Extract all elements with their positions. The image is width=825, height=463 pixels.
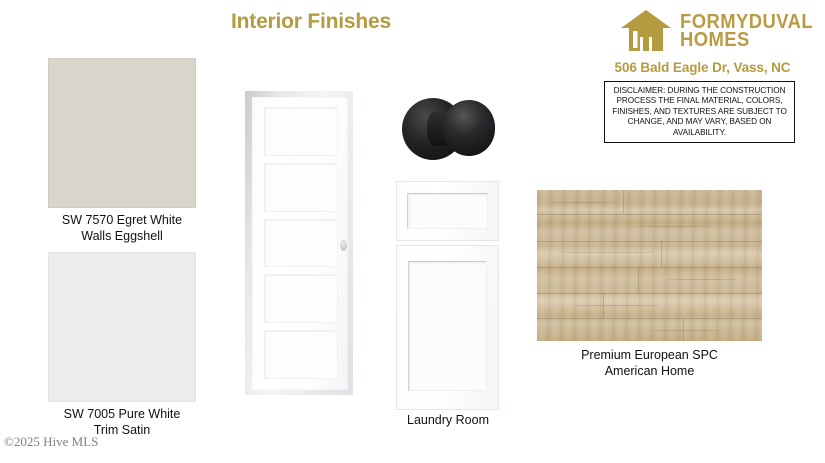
brand-wordmark: FORMYDUVAL HOMES: [680, 13, 813, 49]
cabinet-door-inset: [408, 261, 487, 391]
brand-address: 506 Bald Eagle Dr, Vass, NC: [600, 60, 805, 75]
wood-grain: [667, 279, 737, 280]
paint-swatch-walls-caption: SW 7570 Egret White Walls Eggshell: [33, 208, 211, 244]
brand-block: FORMYDUVAL HOMES 506 Bald Eagle Dr, Vass…: [600, 8, 805, 143]
mls-watermark: ©2025 Hive MLS: [4, 434, 98, 450]
interior-door-image: [245, 91, 353, 395]
cabinet-drawer-inset: [407, 193, 488, 229]
house-fh-logo-icon: [620, 8, 672, 53]
flooring-caption-line1: Premium European SPC: [517, 348, 782, 364]
door-panel-1: [264, 107, 337, 156]
cabinet-caption: Laundry Room: [354, 413, 542, 427]
paint-swatch-trim-caption: SW 7005 Pure White Trim Satin: [33, 402, 211, 438]
wood-grain: [573, 305, 661, 306]
paint-swatch-walls-code: SW 7570 Egret White: [33, 213, 211, 229]
knob-ball: [443, 100, 495, 156]
cabinet-door-image: Laundry Room: [396, 181, 499, 410]
plank-vseam: [661, 241, 662, 267]
plank-seam: [537, 241, 762, 242]
door-panel-4: [264, 274, 337, 323]
paint-chip-trim: [48, 252, 196, 402]
door-slab: [252, 97, 348, 390]
wood-grain: [551, 202, 613, 203]
wood-grain: [633, 226, 711, 227]
plank-seam: [537, 318, 762, 319]
door-hardware-image: [399, 88, 498, 176]
paint-swatch-walls-application: Walls Eggshell: [33, 229, 211, 245]
page-title: Interior Finishes: [200, 10, 422, 34]
cabinet-drawer-front: [396, 181, 499, 241]
wood-grain: [559, 252, 654, 253]
cabinet-door-front: [396, 245, 499, 410]
plank-seam: [537, 214, 762, 215]
flooring-caption: Premium European SPC American Home: [517, 348, 782, 379]
plank-seam: [537, 267, 762, 268]
plank-vseam: [638, 267, 639, 293]
door-panel-3: [264, 219, 337, 268]
paint-chip-walls: [48, 58, 196, 208]
paint-swatch-walls: SW 7570 Egret White Walls Eggshell: [48, 58, 211, 244]
brand-name-line2: HOMES: [680, 31, 813, 49]
interior-finishes-board: Interior Finishes SW 7570 Egret White Wa…: [0, 0, 825, 463]
door-slab-knob-icon: [340, 240, 347, 251]
plank-vseam: [623, 190, 624, 214]
door-panel-2: [264, 163, 337, 212]
plank-seam: [537, 293, 762, 294]
paint-swatch-trim: SW 7005 Pure White Trim Satin: [48, 252, 211, 438]
flooring-sample-image: Premium European SPC American Home: [537, 190, 762, 341]
brand-logo-row: FORMYDUVAL HOMES: [600, 8, 805, 53]
disclaimer-text: DISCLAIMER: DURING THE CONSTRUCTION PROC…: [604, 81, 795, 143]
flooring-surface: [537, 190, 762, 341]
flooring-caption-line2: American Home: [517, 364, 782, 380]
paint-swatch-trim-code: SW 7005 Pure White: [33, 407, 211, 423]
wood-grain: [649, 330, 723, 331]
door-panel-5: [264, 330, 337, 379]
